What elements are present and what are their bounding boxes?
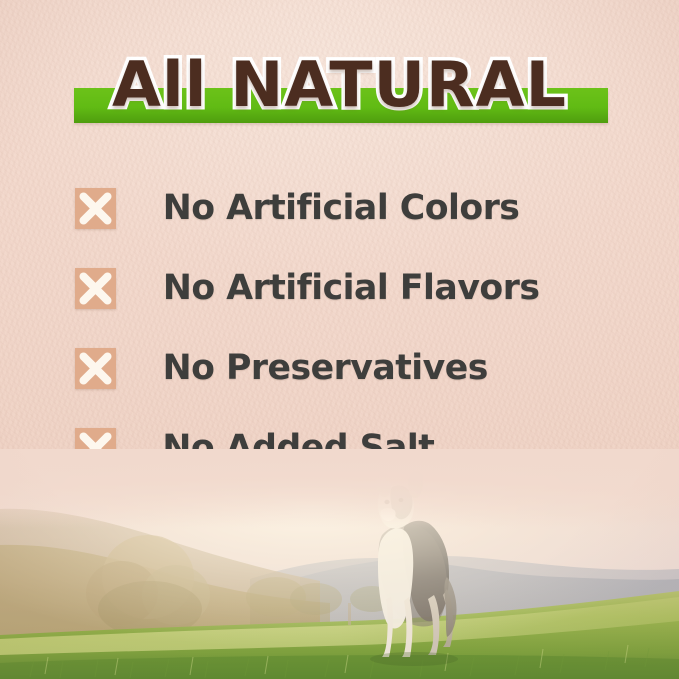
all-natural-poster: All NATURAL No Artificial Colors — [0, 0, 679, 679]
page-title: All NATURAL — [0, 42, 679, 128]
x-mark-icon — [75, 188, 116, 229]
list-item: No Artificial Flavors — [0, 248, 679, 328]
list-item: No Artificial Colors — [0, 168, 679, 248]
claim-label: No Preservatives — [163, 348, 488, 388]
claims-list: No Artificial Colors No Artificial Flavo… — [0, 168, 679, 488]
x-mark-icon — [75, 348, 116, 389]
landscape-photo — [0, 449, 679, 679]
list-item: No Preservatives — [0, 328, 679, 408]
title-banner: All NATURAL — [0, 42, 679, 142]
claim-label: No Artificial Colors — [163, 188, 520, 228]
claim-label: No Artificial Flavors — [163, 268, 540, 308]
x-mark-icon — [75, 268, 116, 309]
